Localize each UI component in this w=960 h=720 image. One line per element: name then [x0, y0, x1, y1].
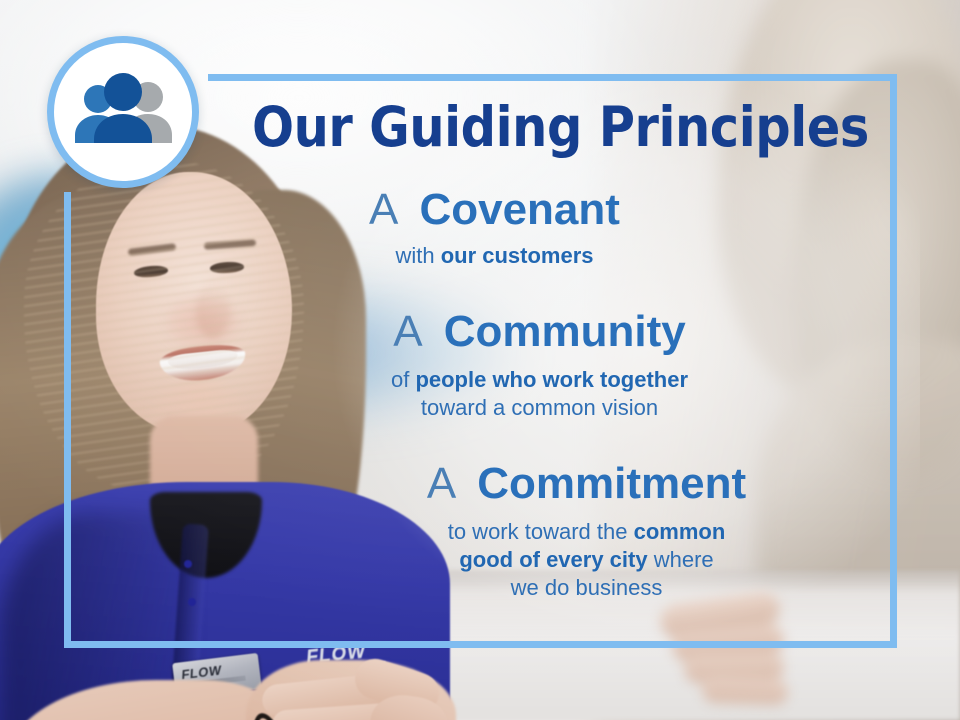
principle-heading: A Covenant [64, 184, 897, 236]
principle-keyword: Commitment [477, 459, 746, 508]
principle-covenant: A Covenant with our customers [64, 184, 897, 270]
principle-subtext-line: to work toward the common [276, 518, 897, 546]
employee-clasped-hands [258, 656, 466, 720]
principle-subtext-line: toward a common vision [182, 394, 897, 422]
principle-heading: A Community [64, 306, 897, 358]
principle-subtext-line: of people who work together [182, 366, 897, 394]
principle-subtext: to work toward the common good of every … [64, 518, 897, 602]
principle-article: A [393, 307, 422, 356]
principle-keyword: Covenant [419, 185, 619, 234]
principle-subtext: with our customers [64, 242, 897, 270]
principle-subtext: of people who work together toward a com… [64, 366, 897, 422]
text-content: Our Guiding Principles A Covenant with o… [64, 74, 897, 648]
principle-keyword: Community [444, 307, 686, 356]
principle-heading: A Commitment [64, 458, 897, 510]
guiding-principles-banner: FLOW FLOW [0, 0, 960, 720]
principle-commitment: A Commitment to work toward the common g… [64, 458, 897, 602]
principle-article: A [427, 459, 456, 508]
principle-subtext-line: we do business [276, 574, 897, 602]
page-title: Our Guiding Principles [252, 98, 846, 156]
principle-community: A Community of people who work together … [64, 306, 897, 422]
principle-subtext-line: with our customers [92, 242, 897, 270]
principle-subtext-line: good of every city where [276, 546, 897, 574]
principle-article: A [369, 185, 398, 234]
